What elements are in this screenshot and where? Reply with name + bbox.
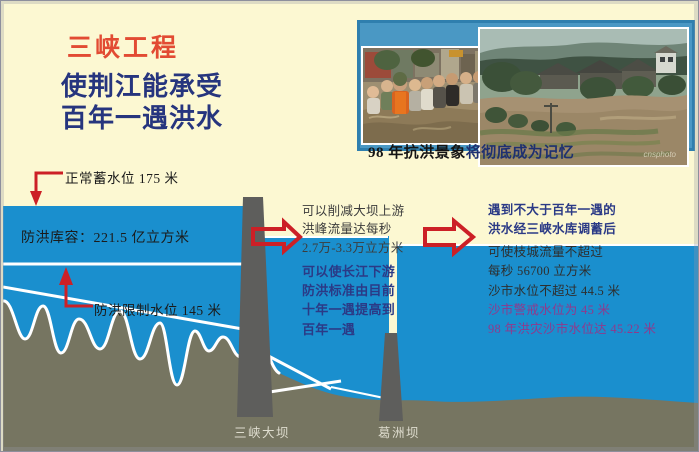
right-body-line-2: 每秒 56700 立方米 bbox=[488, 262, 620, 281]
photo-caption-blue: 将彻底成为记忆 bbox=[466, 145, 575, 161]
photo-flood-rescue bbox=[361, 46, 494, 145]
middle-plain-line-3: 2.7万-3.3万立方米 bbox=[302, 239, 404, 257]
page-title-sub-line1: 使荆江能承受 bbox=[61, 71, 223, 103]
page-title-sub: 使荆江能承受 百年一遇洪水 bbox=[61, 71, 223, 134]
flood-capacity-label: 防洪库容：221.5 亿立方米 bbox=[21, 227, 190, 247]
middle-bold-line-4: 百年一遇 bbox=[302, 320, 395, 339]
middle-bold-line-2: 防洪标准由目前 bbox=[302, 281, 395, 300]
middle-bold-text-block: 可以使长江下游 防洪标准由目前 十年一遇提高到 百年一遇 bbox=[302, 262, 395, 339]
page-title-main: 三峡工程 bbox=[67, 35, 179, 63]
right-body-line-1: 可使枝城流量不超过 bbox=[488, 243, 620, 262]
normal-level-pointer bbox=[30, 173, 63, 206]
gezhouba-dam-caption: 葛洲坝 bbox=[378, 422, 420, 441]
normal-water-level-label: 正常蓄水位 175 米 bbox=[65, 167, 179, 187]
right-warning-line-1: 沙市警戒水位为 45 米 bbox=[488, 301, 656, 320]
middle-plain-line-2: 洪峰流量达每秒 bbox=[302, 220, 404, 238]
right-body-line-3: 沙市水位不超过 44.5 米 bbox=[488, 282, 620, 301]
right-heading-line-1: 遇到不大于百年一遇的 bbox=[488, 201, 616, 220]
middle-plain-text-block: 可以削减大坝上游 洪峰流量达每秒 2.7万-3.3万立方米 bbox=[302, 202, 404, 257]
middle-bold-line-3: 十年一遇提高到 bbox=[302, 300, 395, 319]
svg-text:cnsphoto: cnsphoto bbox=[644, 150, 677, 159]
right-body-block: 可使枝城流量不超过 每秒 56700 立方米 沙市水位不超过 44.5 米 bbox=[488, 243, 620, 301]
page-title-sub-line2: 百年一遇洪水 bbox=[61, 103, 223, 135]
right-warning-line-2: 98 年洪灾沙市水位达 45.22 米 bbox=[488, 320, 656, 339]
flood-limit-level-label: 防洪限制水位 145 米 bbox=[94, 299, 222, 319]
right-heading-block: 遇到不大于百年一遇的 洪水经三峡水库调蓄后 bbox=[488, 201, 616, 239]
photo-caption: 98 年抗洪景象将彻底成为记忆 bbox=[368, 141, 574, 162]
three-gorges-dam-caption: 三峡大坝 bbox=[234, 422, 290, 441]
middle-bold-line-1: 可以使长江下游 bbox=[302, 262, 395, 281]
right-warning-block: 沙市警戒水位为 45 米 98 年洪灾沙市水位达 45.22 米 bbox=[488, 301, 656, 340]
infographic-slide: 三峡工程 使荆江能承受 百年一遇洪水 正常蓄水位 175 米 防洪库容：221.… bbox=[0, 0, 699, 452]
middle-plain-line-1: 可以削减大坝上游 bbox=[302, 202, 404, 220]
right-heading-line-2: 洪水经三峡水库调蓄后 bbox=[488, 220, 616, 239]
photo-caption-black: 98 年抗洪景象 bbox=[368, 145, 466, 161]
